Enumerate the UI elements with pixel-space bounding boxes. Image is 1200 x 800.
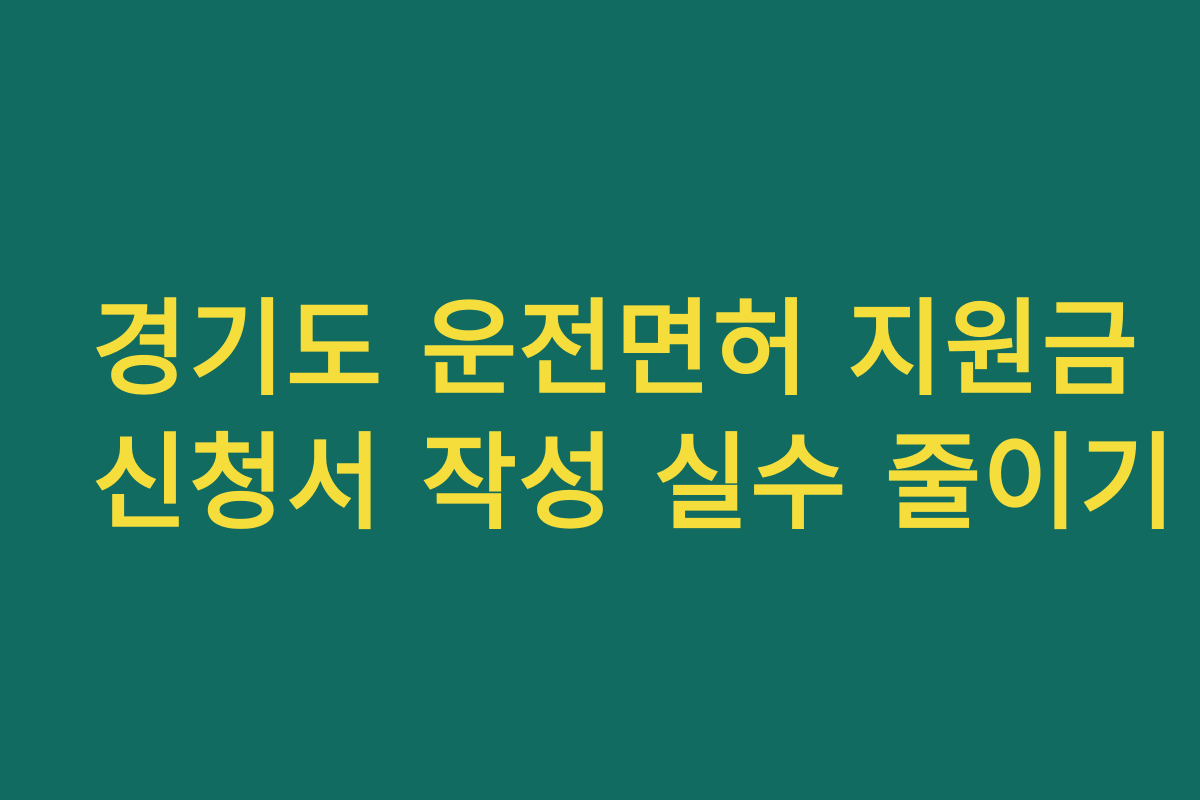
headline-line-2: 신청서 작성 실수 줄이기 bbox=[92, 416, 1122, 550]
banner-canvas: 경기도 운전면허 지원금 신청서 작성 실수 줄이기 bbox=[0, 0, 1200, 800]
headline-block: 경기도 운전면허 지원금 신청서 작성 실수 줄이기 bbox=[92, 282, 1122, 550]
headline-line-1: 경기도 운전면허 지원금 bbox=[92, 282, 1122, 416]
